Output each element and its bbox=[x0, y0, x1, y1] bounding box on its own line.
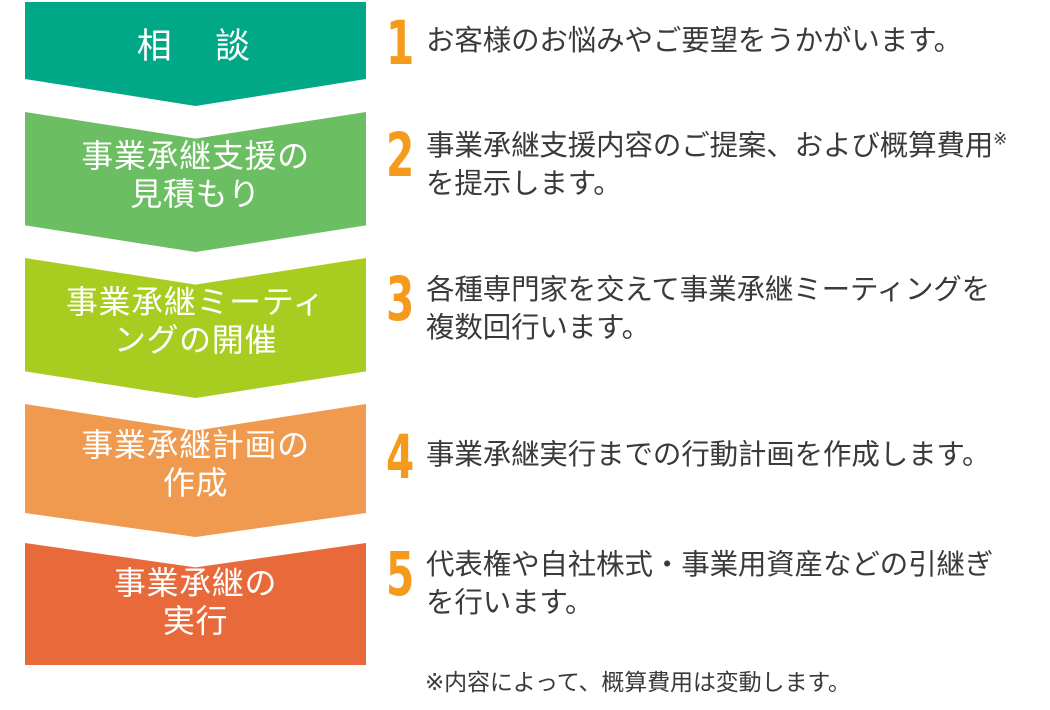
step-description-1-line-1: お客様のお悩みやご要望をうかがいます。 bbox=[426, 25, 962, 57]
step-description-5-text: 代表権や自社株式・事業用資産などの引継ぎを行います。 bbox=[420, 547, 993, 623]
chevron-step-4-label-line-2: 作成 bbox=[163, 465, 228, 501]
chevron-step-1[interactable]: 相 談 bbox=[25, 2, 366, 106]
step-number-3: 3 bbox=[386, 272, 411, 328]
process-flow-diagram: 相 談 事業承継支援の見積もり 事業承継ミーティングの開催 事業承継計画の作成 … bbox=[0, 0, 1050, 710]
chevron-step-5-label: 事業承継の実行 bbox=[25, 565, 366, 641]
step-description-2-text: 事業承継支援内容のご提案、および概算費用※を提示します。 bbox=[420, 128, 1007, 204]
diagram-footnote: ※内容によって、概算費用は変動します。 bbox=[425, 668, 851, 698]
chevron-step-2[interactable]: 事業承継支援の見積もり bbox=[25, 112, 366, 252]
step-description-list: 1 お客様のお悩みやご要望をうかがいます。 2 事業承継支援内容のご提案、および… bbox=[386, 0, 1050, 665]
step-number-4: 4 bbox=[386, 430, 411, 486]
step-description-5-line-1: 代表権や自社株式・事業用資産などの引継ぎ bbox=[426, 549, 993, 581]
step-number-5: 5 bbox=[386, 547, 411, 603]
chevron-step-2-label: 事業承継支援の見積もり bbox=[25, 138, 366, 214]
step-description-5: 5 代表権や自社株式・事業用資産などの引継ぎを行います。 bbox=[386, 547, 993, 623]
step-description-4: 4 事業承継実行までの行動計画を作成します。 bbox=[386, 430, 990, 486]
step-number-2: 2 bbox=[386, 128, 411, 184]
chevron-step-3-label-line-1: 事業承継ミーティ bbox=[66, 284, 325, 320]
step-description-3-text: 各種専門家を交えて事業承継ミーティングを複数回行います。 bbox=[420, 272, 990, 348]
chevron-step-4[interactable]: 事業承継計画の作成 bbox=[25, 404, 366, 537]
step-description-2: 2 事業承継支援内容のご提案、および概算費用※を提示します。 bbox=[386, 128, 1007, 204]
step-description-2-line-1: 事業承継支援内容のご提案、および概算費用 bbox=[426, 130, 993, 162]
chevron-step-5[interactable]: 事業承継の実行 bbox=[25, 543, 366, 665]
step-description-5-line-2: を行います。 bbox=[426, 587, 593, 619]
chevron-step-2-label-line-1: 事業承継支援の bbox=[81, 138, 309, 174]
chevron-step-5-label-line-1: 事業承継の bbox=[114, 565, 277, 601]
chevron-step-3-label-line-2: ングの開催 bbox=[114, 322, 277, 358]
chevron-step-3[interactable]: 事業承継ミーティングの開催 bbox=[25, 258, 366, 398]
step-description-4-text: 事業承継実行までの行動計画を作成します。 bbox=[420, 430, 990, 475]
step-description-3-line-2: 複数回行います。 bbox=[426, 312, 650, 344]
step-description-3: 3 各種専門家を交えて事業承継ミーティングを複数回行います。 bbox=[386, 272, 990, 348]
chevron-step-2-label-line-2: 見積もり bbox=[130, 176, 261, 212]
chevron-step-3-label: 事業承継ミーティングの開催 bbox=[25, 284, 366, 360]
step-description-2-line-2: を提示します。 bbox=[426, 168, 622, 200]
chevron-step-1-label: 相 談 bbox=[25, 26, 366, 67]
step-description-1-text: お客様のお悩みやご要望をうかがいます。 bbox=[420, 16, 962, 61]
chevron-step-5-label-line-2: 実行 bbox=[163, 603, 228, 639]
step-number-1: 1 bbox=[386, 16, 411, 72]
chevron-step-column: 相 談 事業承継支援の見積もり 事業承継ミーティングの開催 事業承継計画の作成 … bbox=[25, 0, 366, 665]
step-description-4-line-1: 事業承継実行までの行動計画を作成します。 bbox=[426, 439, 990, 471]
step-description-3-line-1: 各種専門家を交えて事業承継ミーティングを bbox=[426, 274, 990, 306]
footnote-marker-superscript: ※ bbox=[993, 130, 1007, 149]
step-description-1: 1 お客様のお悩みやご要望をうかがいます。 bbox=[386, 16, 962, 72]
chevron-step-4-label: 事業承継計画の作成 bbox=[25, 427, 366, 503]
chevron-step-4-label-line-1: 事業承継計画の bbox=[81, 427, 309, 463]
